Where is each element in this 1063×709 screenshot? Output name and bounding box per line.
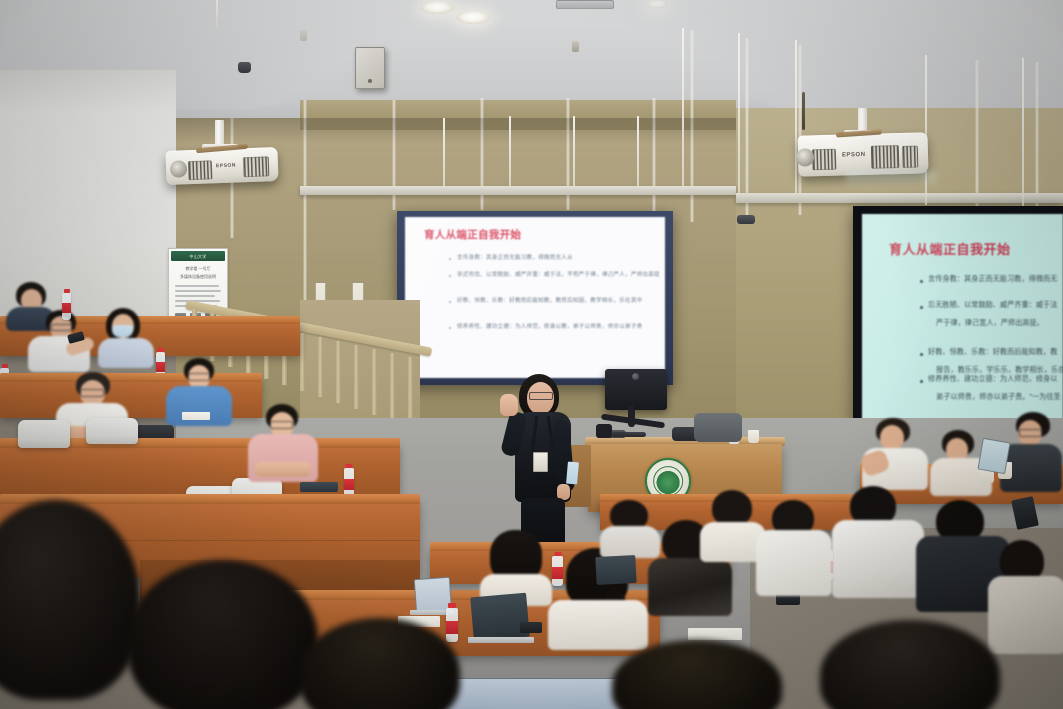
presenter-chair[interactable] — [694, 413, 742, 442]
auditorium-chair[interactable] — [86, 418, 138, 444]
left-projection-screen: 育人从端正自我开始 言传身教：其身正而无能习教，得微而无人从 亲近热忱、以常鼓励… — [405, 217, 665, 378]
presenter-raised-hand — [500, 394, 518, 416]
projector-vent — [243, 156, 270, 177]
foreground-attendee — [612, 640, 792, 709]
attendee-hair — [712, 490, 752, 526]
notebook — [688, 628, 742, 640]
ceiling-downlight — [646, 0, 668, 8]
bottle-label — [62, 303, 71, 313]
attendee-torso — [98, 338, 154, 368]
held-note — [566, 462, 579, 485]
presenter-glasses — [529, 392, 553, 400]
sprinkler-head — [300, 30, 307, 41]
ceiling-cable — [738, 33, 740, 195]
monitor-arm-base — [596, 424, 612, 438]
foreground-head — [128, 560, 318, 709]
bottle-cap — [448, 603, 456, 608]
sprinkler-head — [572, 41, 579, 52]
ceiling-downlight — [420, 1, 454, 14]
sign-title: 中山大学 — [171, 254, 225, 260]
right-slide-line-1: 言传身教：其身正而无能习教，得微而无 — [928, 274, 1057, 284]
attendee-crossed-arms — [254, 462, 312, 477]
foreground-attendee — [300, 618, 470, 709]
attendee — [832, 486, 928, 596]
attendee — [756, 500, 836, 596]
projector-vent — [188, 160, 213, 180]
left-slide-bullet-3: 好教、恒教、乐教：好教而后能知教，教然后知困，教学相长，乐在其中 — [457, 296, 642, 304]
attendee — [862, 418, 936, 488]
sign-text-row — [175, 290, 221, 292]
water-bottle[interactable] — [552, 556, 563, 586]
podium-monitor[interactable] — [605, 369, 667, 410]
baluster — [336, 341, 341, 403]
ceiling-cable — [216, 0, 218, 28]
slide-bullet-marker — [920, 306, 923, 309]
projector-brand-label: EPSON — [216, 163, 236, 170]
tablet-device[interactable] — [977, 438, 1010, 474]
left-slide-bullet-1: 言传身教：其身正而无能习教，得微而无人从 — [457, 253, 573, 261]
right-slide-line-4: 好教、恒教、乐教：好教而后能知教，教 — [928, 347, 1057, 357]
attendee — [480, 530, 558, 600]
baluster — [408, 357, 413, 427]
projector-vent — [871, 145, 900, 169]
auditorium-chair[interactable] — [18, 420, 70, 448]
monitor-brand-logo — [632, 373, 639, 380]
foreground-attendee — [128, 560, 328, 709]
sign-text-row — [175, 295, 215, 297]
wall-speaker — [355, 47, 385, 89]
ceiling-cable-dark — [802, 92, 805, 130]
baluster — [300, 333, 305, 391]
ceiling-cable — [509, 116, 511, 188]
ceiling-cable — [637, 116, 639, 188]
projector-vent — [812, 149, 837, 171]
wall-ledge-right — [736, 193, 1063, 203]
ceiling-camera-secondary — [737, 215, 755, 224]
left-upper-wall — [0, 70, 176, 110]
right-slide-line-3: 严于律，律己宽人，严师出高徒。 — [936, 318, 1044, 328]
projector-lens — [170, 160, 188, 178]
ceiling-projector-left: EPSON — [165, 147, 278, 185]
attendee-glasses — [1019, 429, 1042, 437]
attendee-torso — [648, 558, 732, 616]
ceiling-cable — [573, 116, 575, 188]
foreground-attendee — [820, 620, 1010, 709]
bottle-cap — [64, 289, 70, 293]
projector-brand-label: EPSON — [842, 152, 866, 159]
slide-bullet-marker — [449, 258, 451, 260]
bottle-label — [552, 567, 563, 579]
sign-header-bar: 中山大学 — [171, 251, 225, 261]
attendee — [248, 404, 328, 484]
baluster — [354, 345, 359, 409]
ceiling-cable — [443, 118, 445, 188]
projector-light-spill — [846, 172, 936, 188]
ceiling-camera — [238, 62, 251, 73]
ceiling-cable — [682, 28, 684, 190]
water-bottle[interactable] — [344, 468, 354, 496]
face-mask — [112, 325, 133, 337]
attendee-glasses — [51, 324, 72, 331]
attendee-torso — [600, 526, 660, 558]
attendee-glasses — [270, 421, 293, 429]
slide-bullet-marker — [920, 280, 923, 283]
right-projection-screen: 育人从端正自我开始 言传身教：其身正而无能习教，得微而无 忘无胜陋、以常鼓励、威… — [862, 214, 1063, 421]
ceiling-vent — [556, 0, 614, 9]
foreground-head — [820, 620, 1000, 709]
attendee-head — [880, 425, 904, 450]
sign-text-row — [175, 285, 219, 287]
bottle-cap — [158, 348, 164, 352]
baluster — [318, 337, 323, 397]
laptop-screen[interactable] — [470, 593, 530, 642]
left-slide-title: 育人从端正自我开始 — [424, 227, 521, 242]
slide-bullet-marker — [920, 353, 923, 356]
laptop-screen[interactable] — [595, 555, 636, 585]
baluster — [390, 353, 395, 421]
bottle-label — [344, 479, 354, 490]
bottle-label — [156, 362, 165, 372]
attendee-torso — [832, 520, 924, 598]
sign-subtitle-2: 多媒体设备使用说明 — [169, 274, 227, 280]
baluster — [372, 349, 377, 415]
wall-shadow — [176, 118, 736, 144]
right-slide-line-6: 修养养性、建功立德：为人师范，修身以 — [928, 374, 1057, 384]
notebook — [182, 412, 210, 420]
slide-bullet-marker — [449, 301, 451, 303]
id-badge — [533, 452, 548, 472]
foreground-head — [0, 500, 140, 700]
foreground-head — [612, 640, 782, 709]
bottle-cap — [554, 552, 561, 556]
panel-seam — [798, 45, 802, 215]
ceiling-projector-right: EPSON — [797, 132, 928, 176]
ceiling-cable — [1022, 58, 1024, 206]
attendee-torso — [166, 386, 232, 426]
bottle-cap — [2, 364, 8, 368]
crest-inner — [653, 466, 683, 496]
ceiling-cable — [795, 40, 797, 195]
attendee-glasses — [188, 373, 210, 381]
attendee — [96, 308, 162, 364]
wall-ledge — [300, 186, 736, 195]
speaker-dot — [368, 79, 372, 83]
lecture-hall-photo: EPSON EPSON 育人从端正自我开始 言传身教：其身正而无能习教，得微而无… — [0, 0, 1063, 709]
attendee-phone[interactable] — [520, 622, 542, 633]
panel-seam — [652, 98, 656, 216]
panel-seam — [975, 60, 979, 210]
right-slide-line-2: 忘无胜陋、以常鼓励、威严齐重：威于法 — [928, 300, 1057, 310]
right-slide-line-7: 弟子以师贵，师亦以弟子贵。"一为往圣 — [936, 392, 1061, 402]
paper-cup[interactable] — [748, 430, 759, 443]
panel-seam — [745, 38, 749, 218]
tablet-device[interactable] — [300, 482, 338, 492]
laptop-base — [468, 637, 534, 643]
ceiling-downlight — [456, 11, 490, 24]
left-slide-bullet-2: 亲近热忱、以常鼓励、威严并重：威于法，不苟严于律，律己严人，严师出高徒 — [457, 270, 660, 278]
right-slide-title: 育人从端正自我开始 — [889, 239, 1011, 258]
projector-vent — [902, 146, 919, 168]
attendee-torso — [756, 530, 832, 596]
slide-bullet-marker — [449, 327, 451, 329]
panel-seam — [1035, 62, 1039, 212]
water-bottle[interactable] — [62, 293, 71, 320]
foreground-head — [300, 618, 460, 709]
attendee — [600, 500, 664, 554]
left-slide-bullet-4: 修养养性、建功立德：为人师范，修身以教，弟子以师贵，师亦以弟子贵 — [457, 322, 642, 330]
sign-subtitle-1: 教学楼 一号厅 — [169, 266, 227, 272]
slide-bullet-marker — [920, 380, 923, 383]
bottle-cap — [346, 464, 353, 468]
attendee-glasses — [80, 389, 104, 397]
slide-bullet-marker — [449, 275, 451, 277]
